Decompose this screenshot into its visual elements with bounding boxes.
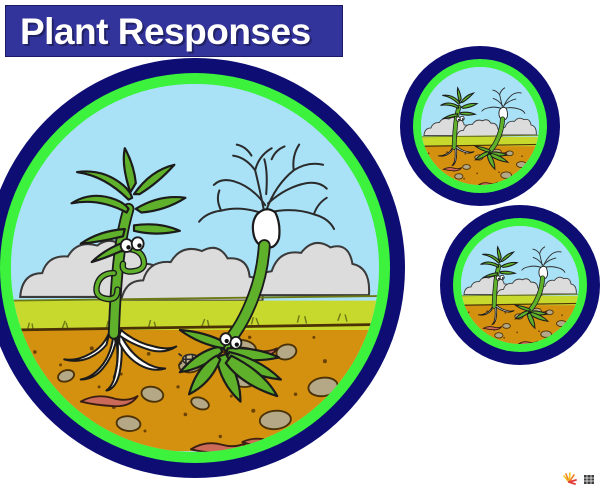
small-circle-bottom[interactable] xyxy=(440,205,600,365)
plant-response-illustration-thumb-2 xyxy=(461,226,579,344)
plant-response-illustration-thumb-1 xyxy=(421,67,539,185)
grid-square-icon xyxy=(584,475,594,484)
plant-response-illustration xyxy=(11,84,378,451)
face-upright xyxy=(456,116,464,121)
main-circle-green-ring xyxy=(0,73,390,463)
small-circle-bottom-green-ring xyxy=(453,218,587,352)
face-upright xyxy=(121,238,144,253)
title-banner: Plant Responses xyxy=(5,5,343,57)
small-circle-top-green-ring xyxy=(413,59,547,193)
clouds xyxy=(464,276,576,295)
main-circle-scene-clip xyxy=(11,84,378,451)
page-title: Plant Responses xyxy=(6,13,311,50)
clouds xyxy=(21,241,370,301)
small-circle-bottom-scene-clip xyxy=(461,226,579,344)
small-circle-top-scene-clip xyxy=(421,67,539,185)
face-upright xyxy=(496,275,504,280)
site-watermark xyxy=(560,470,598,486)
small-circle-top[interactable] xyxy=(400,46,560,206)
main-circle[interactable] xyxy=(0,58,405,478)
clouds xyxy=(424,117,536,136)
starburst-icon xyxy=(564,473,576,484)
